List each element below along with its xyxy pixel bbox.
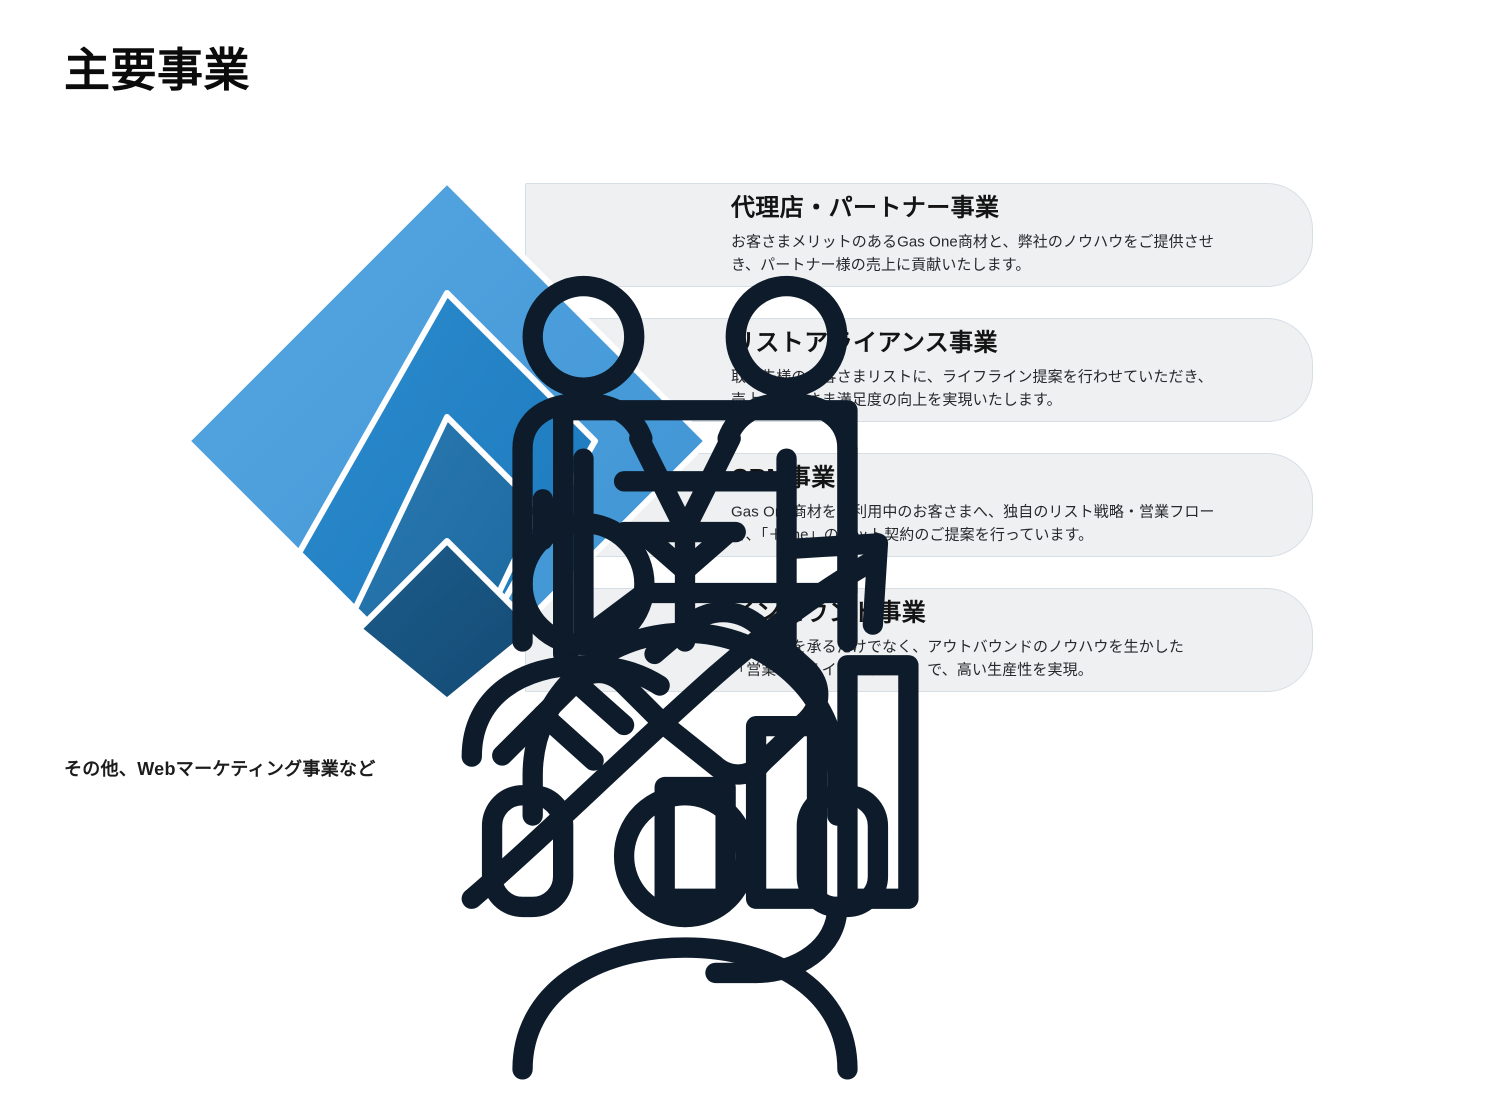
nested-diamond-diagram [183,177,711,707]
contract-document-handshake-icon [421,328,473,380]
page-title: 主要事業 [64,44,250,97]
slide-canvas: 主要事業 代理店・パートナー事業 お客さまメリットのあるGas One商材と、弊… [0,0,1492,814]
footer-note: その他、Webマーケティング事業など [64,755,376,781]
person-growth-chart-icon [421,451,473,503]
partnership-handshake-people-icon [421,214,473,266]
headset-support-agent-icon [421,581,473,633]
